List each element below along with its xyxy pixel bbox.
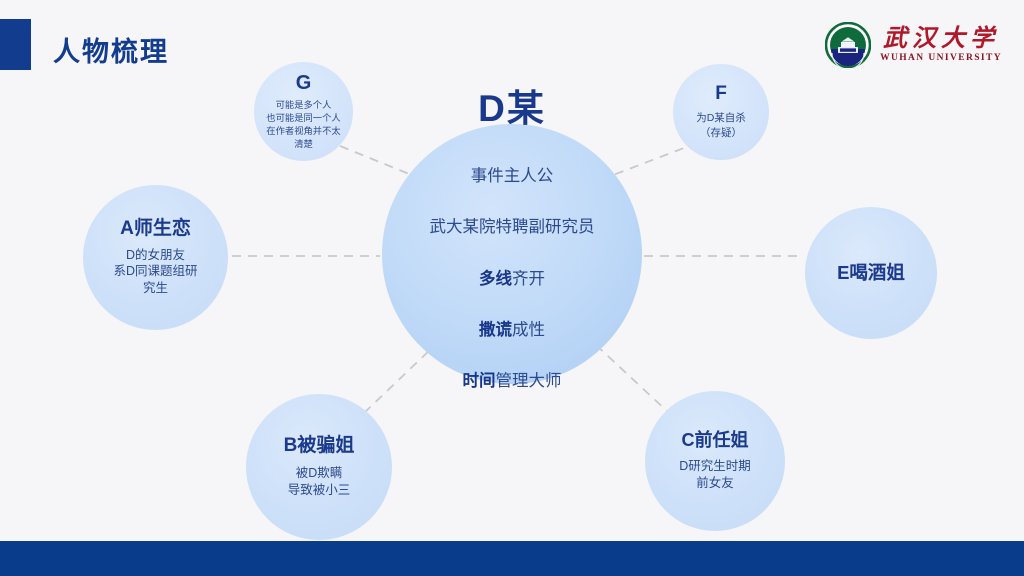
node-d-line-3-rest: 齐开 <box>512 270 545 288</box>
slide-canvas: 人物梳理 武汉大学 WUHAN UNIVERSITY <box>0 0 1024 576</box>
node-g-title: G <box>296 72 312 95</box>
node-d-title: D某 <box>478 88 546 131</box>
node-g-sub: 可能是多个人 也可能是同一个人 在作者视角并不太 清楚 <box>266 99 340 152</box>
node-c-title: C前任姐 <box>682 430 749 451</box>
node-e[interactable]: E喝酒姐 <box>805 207 937 339</box>
footer-bar <box>0 541 1024 576</box>
node-a-sub: D的女朋友 系D同课题组研 究生 <box>113 247 197 298</box>
logo-name-cn: 武汉大学 <box>883 27 999 51</box>
node-f[interactable]: F 为D某自杀 （存疑） <box>673 64 769 160</box>
node-d-line-4-bold: 撒谎 <box>479 321 512 339</box>
node-d[interactable]: D某 事件主人公 武大某院特聘副研究员 多线齐开 撒谎成性 时间管理大师 <box>382 124 642 384</box>
node-d-line-2: 武大某院特聘副研究员 <box>430 215 595 241</box>
node-f-sub: 为D某自杀 （存疑） <box>696 111 746 141</box>
node-d-line-3: 多线齐开 <box>430 267 595 293</box>
wuhan-university-logo: 武汉大学 WUHAN UNIVERSITY <box>825 22 1002 68</box>
node-b-title: B被骗姐 <box>284 435 355 457</box>
node-d-line-4: 撒谎成性 <box>430 318 595 344</box>
node-d-line-1: 事件主人公 <box>430 164 595 190</box>
node-b[interactable]: B被骗姐 被D欺瞒 导致被小三 <box>246 394 392 540</box>
node-a-title: A师生恋 <box>120 218 191 240</box>
node-a[interactable]: A师生恋 D的女朋友 系D同课题组研 究生 <box>83 185 228 330</box>
node-b-sub: 被D欺瞒 导致被小三 <box>288 465 351 499</box>
university-emblem-icon <box>825 22 871 68</box>
node-d-line-3-bold: 多线 <box>479 270 512 288</box>
node-d-details: 事件主人公 武大某院特聘副研究员 多线齐开 撒谎成性 时间管理大师 <box>430 139 595 420</box>
connector-d-c <box>596 345 668 412</box>
node-g[interactable]: G 可能是多个人 也可能是同一个人 在作者视角并不太 清楚 <box>254 62 353 161</box>
node-d-line-5-bold: 时间 <box>463 372 496 390</box>
node-e-title: E喝酒姐 <box>837 262 905 283</box>
node-c[interactable]: C前任姐 D研究生时期 前女友 <box>645 391 785 531</box>
header-accent-block <box>0 19 31 70</box>
node-f-title: F <box>715 83 727 105</box>
logo-name-en: WUHAN UNIVERSITY <box>880 54 1002 64</box>
node-d-line-5-rest: 管理大师 <box>496 372 562 390</box>
page-title: 人物梳理 <box>53 30 169 69</box>
node-c-sub: D研究生时期 前女友 <box>679 458 751 492</box>
logo-wordmark: 武汉大学 WUHAN UNIVERSITY <box>880 27 1002 64</box>
connector-b-d <box>364 348 432 413</box>
node-d-line-5: 时间管理大师 <box>430 369 595 395</box>
node-d-line-4-rest: 成性 <box>512 321 545 339</box>
